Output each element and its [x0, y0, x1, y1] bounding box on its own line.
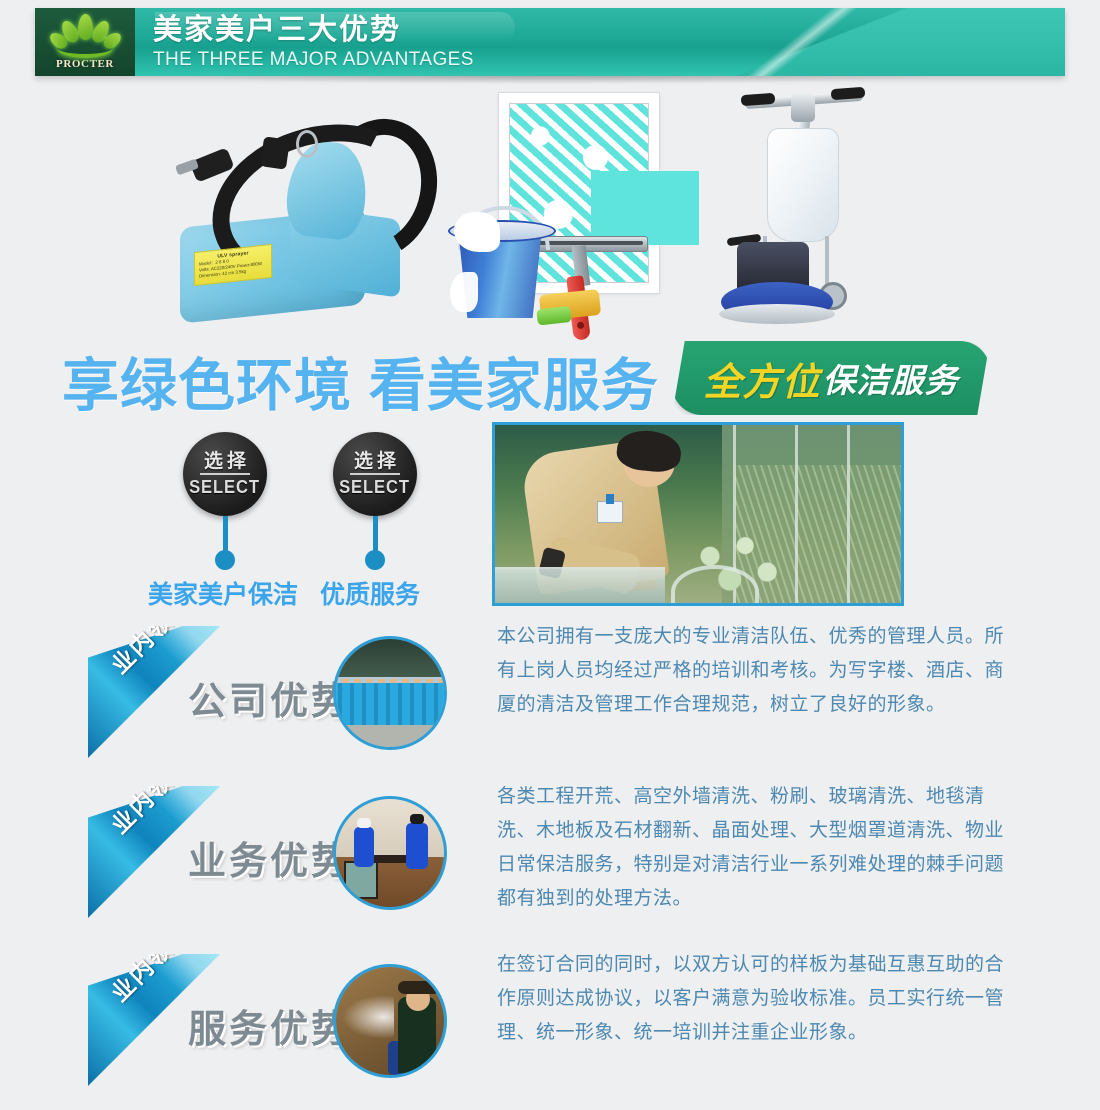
advantage-paragraph: 在签订合同的同时，以双方认可的样板为基础互惠互助的合作原则达成协议，以客户满意为… — [497, 948, 1015, 1050]
window-cleaning-illustration — [440, 86, 680, 326]
select-disc-icon: 选择 SELECT — [333, 432, 417, 516]
leaf-crown-icon — [49, 14, 121, 56]
sponge-icon — [539, 289, 601, 321]
advantage-block-company: 业内领先 公司优势 本公司拥有一支庞大的专业清洁队伍、优秀的管理人员。所有上岗人… — [0, 622, 1100, 782]
badge-rest-text: 保洁服务 — [823, 354, 959, 402]
pin-dot-icon — [365, 550, 385, 570]
advantage-title: 业务优势 — [188, 830, 352, 885]
floor-polisher-image — [715, 86, 895, 332]
select-pin-2-en: SELECT — [340, 477, 411, 497]
select-pin-1[interactable]: 选择 SELECT — [183, 432, 267, 570]
select-pin-1-en: SELECT — [190, 477, 261, 497]
advantage-title: 公司优势 — [188, 670, 352, 725]
promo-page: PROCTER 美家美户三大优势 THE THREE MAJOR ADVANTA… — [0, 0, 1100, 1096]
ulv-sprayer-image: ULV sprayer Model：2 6 8 0 Volts: AC220/2… — [170, 100, 400, 320]
header-title-cn: 美家美户三大优势 — [153, 14, 474, 47]
main-slogan: 享绿色环境 看美家服务 — [62, 340, 659, 422]
select-pin-2-cn: 选择 — [350, 452, 400, 475]
header-title-en: THE THREE MAJOR ADVANTAGES — [153, 48, 474, 72]
advantage-title: 服务优势 — [188, 998, 352, 1053]
header-text-group: 美家美户三大优势 THE THREE MAJOR ADVANTAGES — [153, 14, 474, 72]
header-drop-shadow — [175, 76, 935, 84]
advantage-block-business: 业内领先 业务优势 各类工程开荒、高空外墙清洗、粉刷、玻璃清洗、地毯清洗、木地板… — [0, 782, 1100, 942]
advantage-thumbnail-service — [333, 964, 447, 1078]
pin-dot-icon — [215, 550, 235, 570]
advantage-thumbnail-company — [333, 636, 447, 750]
product-image-row: ULV sprayer Model：2 6 8 0 Volts: AC220/2… — [0, 86, 1100, 336]
advantage-thumbnail-business — [333, 796, 447, 910]
pin-stem — [223, 516, 228, 552]
advantage-paragraph: 本公司拥有一支庞大的专业清洁队伍、优秀的管理人员。所有上岗人员均经过严格的培训和… — [497, 620, 1015, 722]
select-pin-2[interactable]: 选择 SELECT — [333, 432, 417, 570]
badge-highlight-text: 全方位 — [703, 351, 820, 406]
service-badge: 全方位 保洁服务 — [672, 341, 990, 415]
hero-photo — [492, 422, 904, 606]
select-pin-1-label: 美家美户保洁 — [148, 575, 298, 611]
page-header: PROCTER 美家美户三大优势 THE THREE MAJOR ADVANTA… — [35, 8, 1065, 76]
brand-name: PROCTER — [56, 58, 114, 70]
pin-stem — [373, 516, 378, 552]
select-pin-1-cn: 选择 — [200, 452, 250, 475]
advantage-block-service: 业内领先 服务优势 在签订合同的同时，以双方认可的样板为基础互惠互助的合作原则达… — [0, 950, 1100, 1110]
brand-logo: PROCTER — [35, 8, 135, 76]
select-disc-icon: 选择 SELECT — [183, 432, 267, 516]
advantage-paragraph: 各类工程开荒、高空外墙清洗、粉刷、玻璃清洗、地毯清洗、木地板及石材翻新、晶面处理… — [497, 780, 1015, 916]
select-pin-2-label: 优质服务 — [320, 575, 420, 611]
